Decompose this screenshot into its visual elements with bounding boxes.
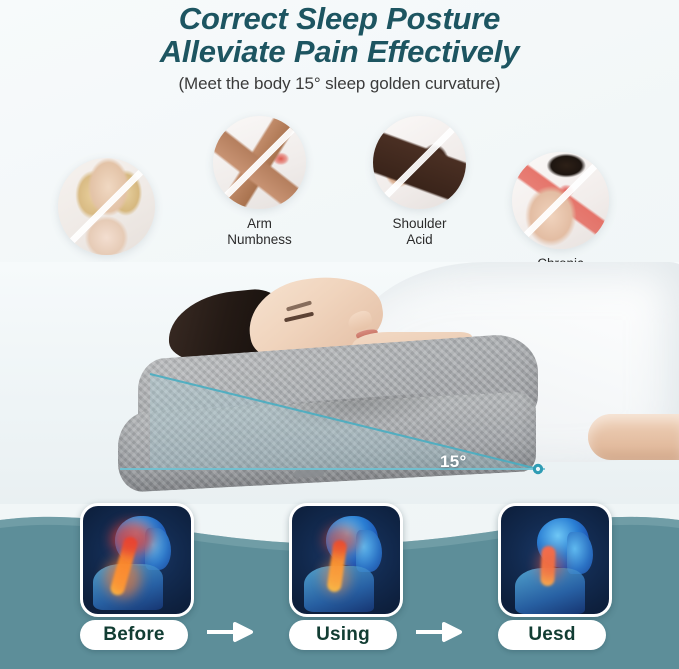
symptom-label-shoulder-acid: Shoulder Acid (373, 216, 466, 248)
comparison-image-used[interactable] (498, 503, 612, 617)
model-arm (588, 414, 679, 460)
arm-numbness-photo (213, 116, 306, 209)
hero-photo (0, 262, 679, 504)
comparison-label-using: Using (289, 620, 397, 650)
symptom-badge-shoulder-acid: Shoulder Acid (373, 116, 466, 248)
page-title: Correct Sleep Posture Alleviate Pain Eff… (0, 2, 679, 68)
headline-line-2: Alleviate Pain Effectively (0, 35, 679, 68)
infographic-page: Correct Sleep Posture Alleviate Pain Eff… (0, 0, 679, 669)
comparison-label-used: Uesd (498, 620, 606, 650)
comparison-image-using[interactable] (289, 503, 403, 617)
headache-photo (58, 158, 155, 255)
right-arrow-icon-2 (414, 621, 470, 643)
comparison-panel: Before Using Uesd (0, 498, 679, 669)
shoulder-acid-photo (373, 116, 466, 209)
symptom-label-arm-numbness: Arm Numbness (213, 216, 306, 248)
chronic-neck-pain-photo (512, 152, 609, 249)
symptom-badge-arm-numbness: Arm Numbness (213, 116, 306, 248)
right-arrow-icon-1 (205, 621, 261, 643)
contour-pillow (118, 346, 538, 496)
angle-value-label: 15° (440, 452, 467, 472)
comparison-steps: Before Using Uesd (0, 498, 679, 669)
symptom-badge-headache: Headache (58, 158, 155, 278)
headline-line-1: Correct Sleep Posture (179, 1, 500, 36)
comparison-image-before[interactable] (80, 503, 194, 617)
page-subtitle: (Meet the body 15° sleep golden curvatur… (0, 74, 679, 94)
comparison-label-before: Before (80, 620, 188, 650)
